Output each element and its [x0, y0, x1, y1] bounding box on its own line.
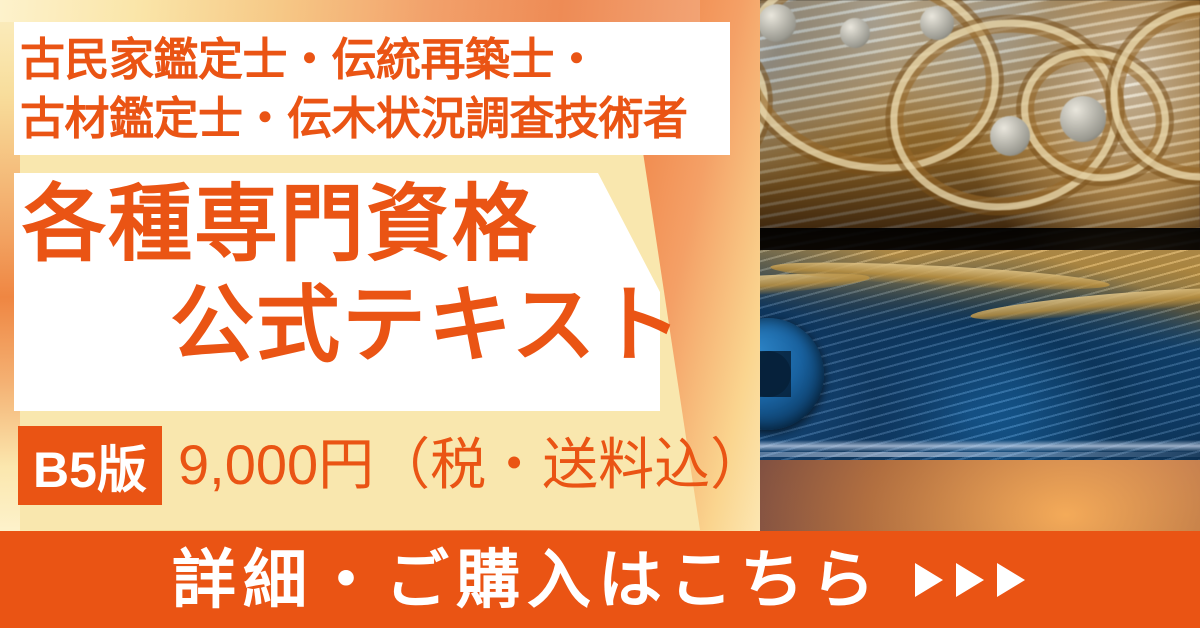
qualifications-line-1: 古民家鑑定士・伝統再築士・: [20, 30, 720, 89]
carving-bead: [920, 6, 954, 40]
heading-line-1: 各種専門資格: [22, 182, 538, 266]
carving-bead: [1060, 96, 1106, 142]
play-arrow-icon: [994, 560, 1028, 600]
carving-bead: [758, 4, 796, 42]
promo-banner: 古民家 伝統構法、古民家活用のための調査と再生の 古民家鑑定士・伝統再築士・ 古…: [0, 0, 1200, 628]
cta-arrows: [912, 560, 1028, 600]
qualifications-line-2: 古材鑑定士・伝木状況調査技術者: [20, 89, 720, 148]
qualifications-text: 古民家鑑定士・伝統再築士・ 古材鑑定士・伝木状況調査技術者: [20, 30, 720, 149]
size-badge: B5版: [18, 426, 162, 505]
play-arrow-icon: [912, 560, 946, 600]
cta-label: 詳細・ご購入はこちら: [172, 548, 882, 612]
wave-crest: [770, 257, 1111, 295]
top-edge-gradient-strip: [0, 0, 700, 22]
carving-bead: [840, 18, 870, 48]
cta-bar[interactable]: 詳細・ご購入はこちら: [0, 531, 1200, 628]
price-text: 9,000円（税・送料込）: [178, 430, 766, 500]
carving-bead: [990, 116, 1030, 156]
play-arrow-icon: [953, 560, 987, 600]
heading-line-2: 公式テキスト: [170, 283, 683, 367]
